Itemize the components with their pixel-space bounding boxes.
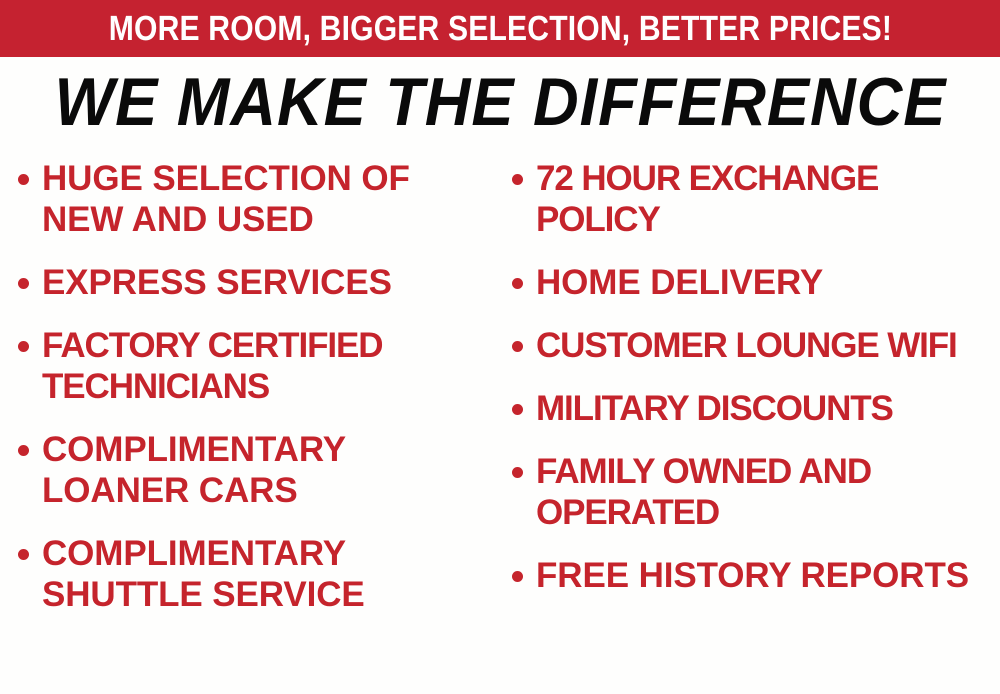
- bullet-dot-icon: [18, 549, 29, 560]
- page-title: WE MAKE THE DIFFERENCE: [0, 66, 1000, 138]
- list-item-label: FAMILY OWNED AND OPERATED: [536, 451, 1000, 533]
- list-item-label: COMPLIMENTARY SHUTTLE SERVICE: [42, 533, 472, 615]
- list-item-label: HUGE SELECTION OF NEW AND USED: [42, 158, 472, 240]
- banner-bar: MORE ROOM, BIGGER SELECTION, BETTER PRIC…: [0, 0, 1000, 57]
- banner-headline: MORE ROOM, BIGGER SELECTION, BETTER PRIC…: [108, 11, 891, 47]
- bullet-dot-icon: [512, 174, 523, 185]
- list-item-label: 72 HOUR EXCHANGE POLICY: [536, 158, 1000, 240]
- list-item: FACTORY CERTIFIED TECHNICIANS: [18, 325, 496, 407]
- bullet-dot-icon: [512, 404, 523, 415]
- promo-poster: MORE ROOM, BIGGER SELECTION, BETTER PRIC…: [0, 0, 1000, 694]
- features-column-right: 72 HOUR EXCHANGE POLICY HOME DELIVERY CU…: [500, 158, 1000, 618]
- bullet-dot-icon: [18, 278, 29, 289]
- list-item: FAMILY OWNED AND OPERATED: [512, 451, 1000, 533]
- list-item: HOME DELIVERY: [512, 262, 1000, 303]
- list-item-label: COMPLIMENTARY LOANER CARS: [42, 429, 472, 511]
- list-item: FREE HISTORY REPORTS: [512, 555, 1000, 596]
- bullet-dot-icon: [512, 467, 523, 478]
- list-item: EXPRESS SERVICES: [18, 262, 496, 303]
- list-item: 72 HOUR EXCHANGE POLICY: [512, 158, 1000, 240]
- list-item-label: FREE HISTORY REPORTS: [536, 555, 1000, 596]
- list-item-label: FACTORY CERTIFIED TECHNICIANS: [42, 325, 472, 407]
- list-item-label: EXPRESS SERVICES: [42, 262, 472, 303]
- list-item-label: CUSTOMER LOUNGE WIFI: [536, 325, 1000, 366]
- list-item: HUGE SELECTION OF NEW AND USED: [18, 158, 496, 240]
- bullet-dot-icon: [18, 341, 29, 352]
- features-column-left: HUGE SELECTION OF NEW AND USED EXPRESS S…: [0, 158, 500, 637]
- bullet-dot-icon: [512, 278, 523, 289]
- features-columns: HUGE SELECTION OF NEW AND USED EXPRESS S…: [0, 158, 1000, 694]
- list-item: COMPLIMENTARY SHUTTLE SERVICE: [18, 533, 496, 615]
- bullet-dot-icon: [512, 341, 523, 352]
- list-item: COMPLIMENTARY LOANER CARS: [18, 429, 496, 511]
- bullet-dot-icon: [512, 571, 523, 582]
- list-item-label: HOME DELIVERY: [536, 262, 1000, 303]
- list-item: CUSTOMER LOUNGE WIFI: [512, 325, 1000, 366]
- bullet-dot-icon: [18, 445, 29, 456]
- bullet-dot-icon: [18, 174, 29, 185]
- list-item-label: MILITARY DISCOUNTS: [536, 388, 1000, 429]
- list-item: MILITARY DISCOUNTS: [512, 388, 1000, 429]
- page-title-text: WE MAKE THE DIFFERENCE: [54, 66, 946, 138]
